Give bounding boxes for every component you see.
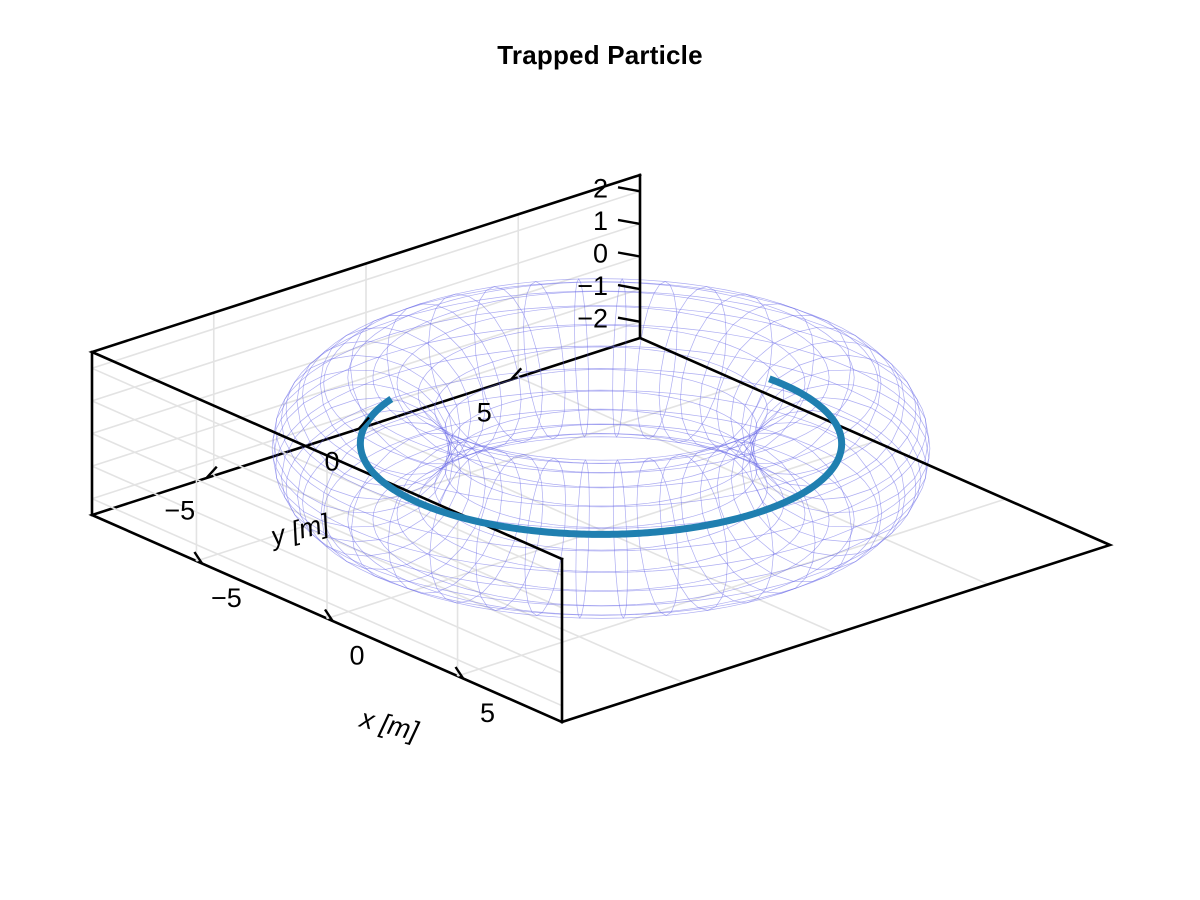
axis-tick-label: −5 (164, 496, 195, 526)
figure-canvas: Trapped Particle −50550−5210−1−2x [m]y [… (0, 0, 1200, 900)
axis-tick-label: 1 (593, 206, 608, 236)
axis-tick-label: 0 (324, 447, 339, 477)
axis-tick-label: 5 (477, 397, 492, 427)
axis-tick-label: 5 (480, 698, 495, 728)
x-axis-title: x [m] (355, 703, 422, 747)
axis-tick-label: −1 (577, 271, 608, 301)
axis-tick-label: −5 (211, 583, 242, 613)
axis-tick-label: 2 (593, 173, 608, 203)
axis-tick-label: 0 (593, 239, 608, 269)
plot-3d-axes: −50550−5210−1−2x [m]y [m] (0, 0, 1200, 900)
axis-tick-label: −2 (577, 304, 608, 334)
axis-tick-label: 0 (349, 641, 364, 671)
